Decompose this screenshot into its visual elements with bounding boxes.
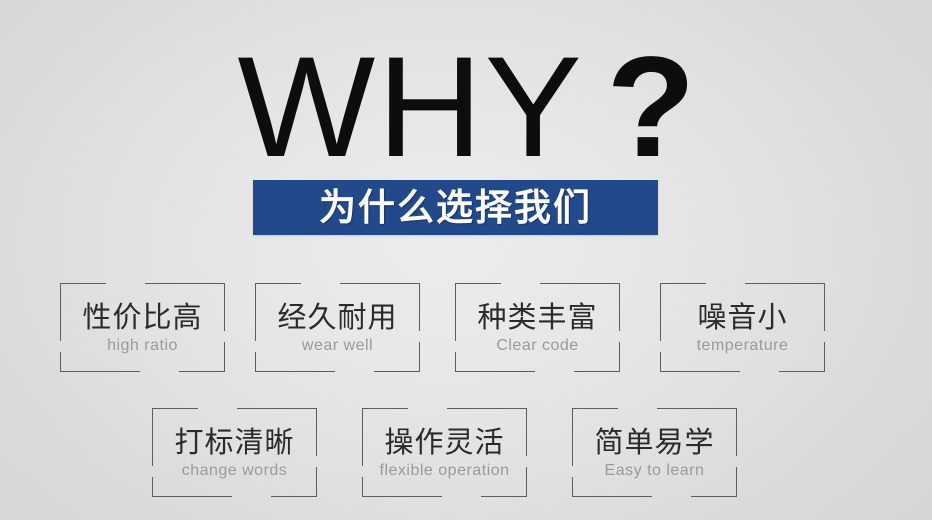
feature-title-cn: 种类丰富 (477, 301, 597, 333)
headline-question-mark: ? (606, 28, 695, 187)
feature-box-temperature: 噪音小 temperature (660, 283, 825, 372)
headline-why-text: WHY? (237, 36, 695, 179)
feature-title-cn: 操作灵活 (384, 426, 504, 458)
feature-box-wear-well: 经久耐用 wear well (255, 283, 420, 372)
feature-subtitle-en: flexible operation (380, 463, 510, 479)
poster-canvas: WHY? 为什么选择我们 性价比高 high ratio 经久耐用 wear w… (0, 0, 932, 520)
feature-title-cn: 经久耐用 (277, 301, 397, 333)
feature-subtitle-en: Clear code (496, 338, 578, 354)
feature-subtitle-en: Easy to learn (605, 463, 705, 479)
feature-box-clear-code: 种类丰富 Clear code (455, 283, 620, 372)
feature-title-cn: 打标清晰 (174, 426, 294, 458)
page-title: WHY? (0, 36, 932, 179)
feature-subtitle-en: change words (182, 463, 288, 479)
feature-subtitle-en: temperature (697, 338, 789, 354)
feature-box-high-ratio: 性价比高 high ratio (60, 283, 225, 372)
feature-title-cn: 性价比高 (82, 301, 202, 333)
feature-box-change-words: 打标清晰 change words (152, 408, 317, 497)
feature-subtitle-en: wear well (302, 338, 373, 354)
subtitle-banner: 为什么选择我们 (253, 180, 658, 235)
headline-word: WHY (237, 28, 583, 187)
feature-box-easy-to-learn: 简单易学 Easy to learn (572, 408, 737, 497)
feature-title-cn: 简单易学 (594, 426, 714, 458)
subtitle-banner-label: 为什么选择我们 (319, 189, 592, 226)
feature-box-flexible-operation: 操作灵活 flexible operation (362, 408, 527, 497)
feature-subtitle-en: high ratio (107, 338, 178, 354)
feature-title-cn: 噪音小 (697, 301, 787, 333)
